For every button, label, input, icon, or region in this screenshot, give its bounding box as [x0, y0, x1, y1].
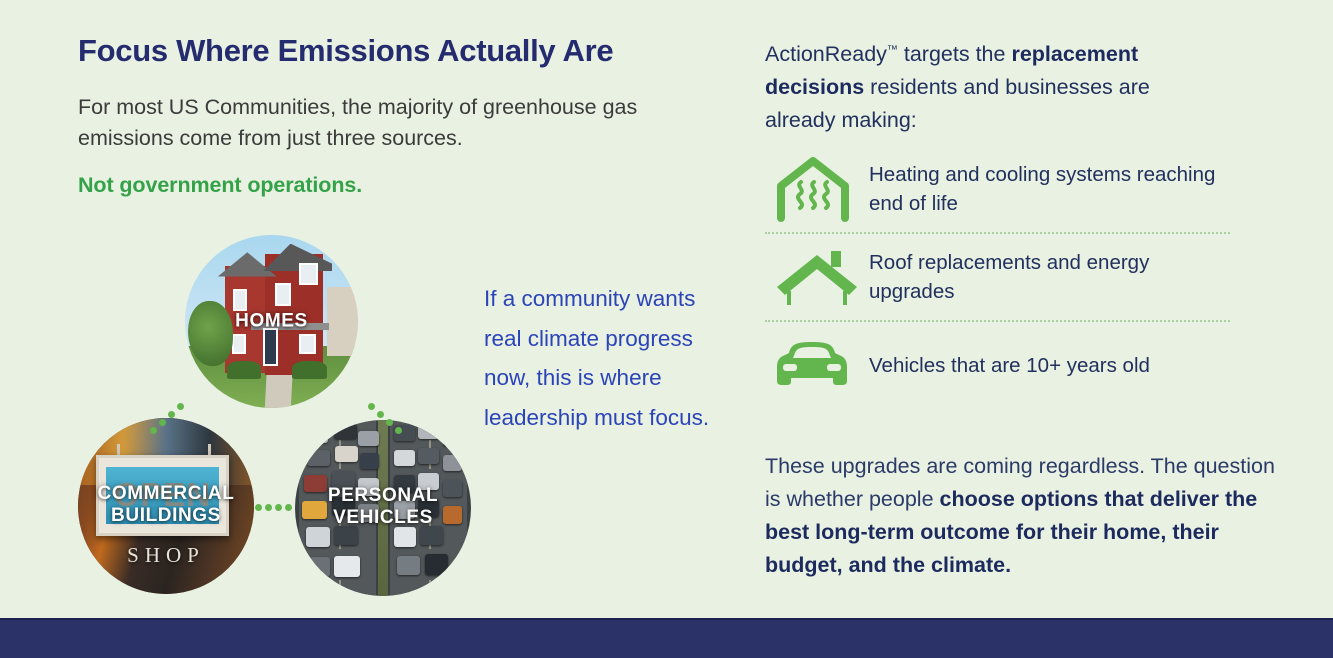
intro-paragraph: ActionReady™ targets the replacement dec…: [765, 34, 1225, 137]
closing-paragraph: These upgrades are coming regardless. Th…: [765, 450, 1285, 582]
feature-item-heating-cooling[interactable]: Heating and cooling systems reaching end…: [765, 150, 1235, 228]
open-sign-text: OPEN: [114, 476, 212, 514]
trademark-symbol: ™: [887, 44, 898, 56]
infographic-page: Focus Where Emissions Actually Are For m…: [0, 0, 1333, 658]
green-emphasis-text: Not government operations.: [78, 173, 362, 198]
house-heat-icon: [765, 156, 869, 222]
circle-commercial-buildings[interactable]: OPEN SHOP COMMERCIAL BUILDINGS: [78, 418, 254, 594]
right-column: ActionReady™ targets the replacement dec…: [765, 0, 1285, 618]
source-circle-cluster: HOMES OPEN SHOP COMMERCIA: [78, 230, 488, 590]
feature-label-heating-cooling: Heating and cooling systems reaching end…: [869, 160, 1235, 218]
feature-divider-1: [765, 232, 1230, 234]
roof-icon: [765, 247, 869, 307]
homes-photo: [185, 235, 358, 408]
page-title: Focus Where Emissions Actually Are: [78, 33, 613, 69]
feature-list: Heating and cooling systems reaching end…: [765, 150, 1235, 404]
brand-name: ActionReady: [765, 42, 887, 66]
feature-item-roof[interactable]: Roof replacements and energy upgrades: [765, 238, 1235, 316]
leadership-quote: If a community wants real climate progre…: [484, 279, 734, 437]
left-column: Focus Where Emissions Actually Are For m…: [78, 0, 738, 618]
feature-label-vehicles: Vehicles that are 10+ years old: [869, 351, 1150, 380]
intro-part2: targets the: [898, 42, 1012, 66]
car-icon: [765, 339, 869, 391]
feature-divider-2: [765, 320, 1230, 322]
feature-label-roof: Roof replacements and energy upgrades: [869, 248, 1235, 306]
subhead-text: For most US Communities, the majority of…: [78, 92, 668, 154]
circle-homes[interactable]: HOMES: [185, 235, 358, 408]
bottom-bar: [0, 618, 1333, 658]
circle-personal-vehicles[interactable]: PERSONAL VEHICLES: [295, 420, 471, 596]
vehicles-photo: [295, 420, 471, 596]
commercial-photo: OPEN SHOP: [78, 418, 254, 594]
shop-text: SHOP: [78, 543, 254, 568]
feature-item-vehicles[interactable]: Vehicles that are 10+ years old: [765, 326, 1235, 404]
